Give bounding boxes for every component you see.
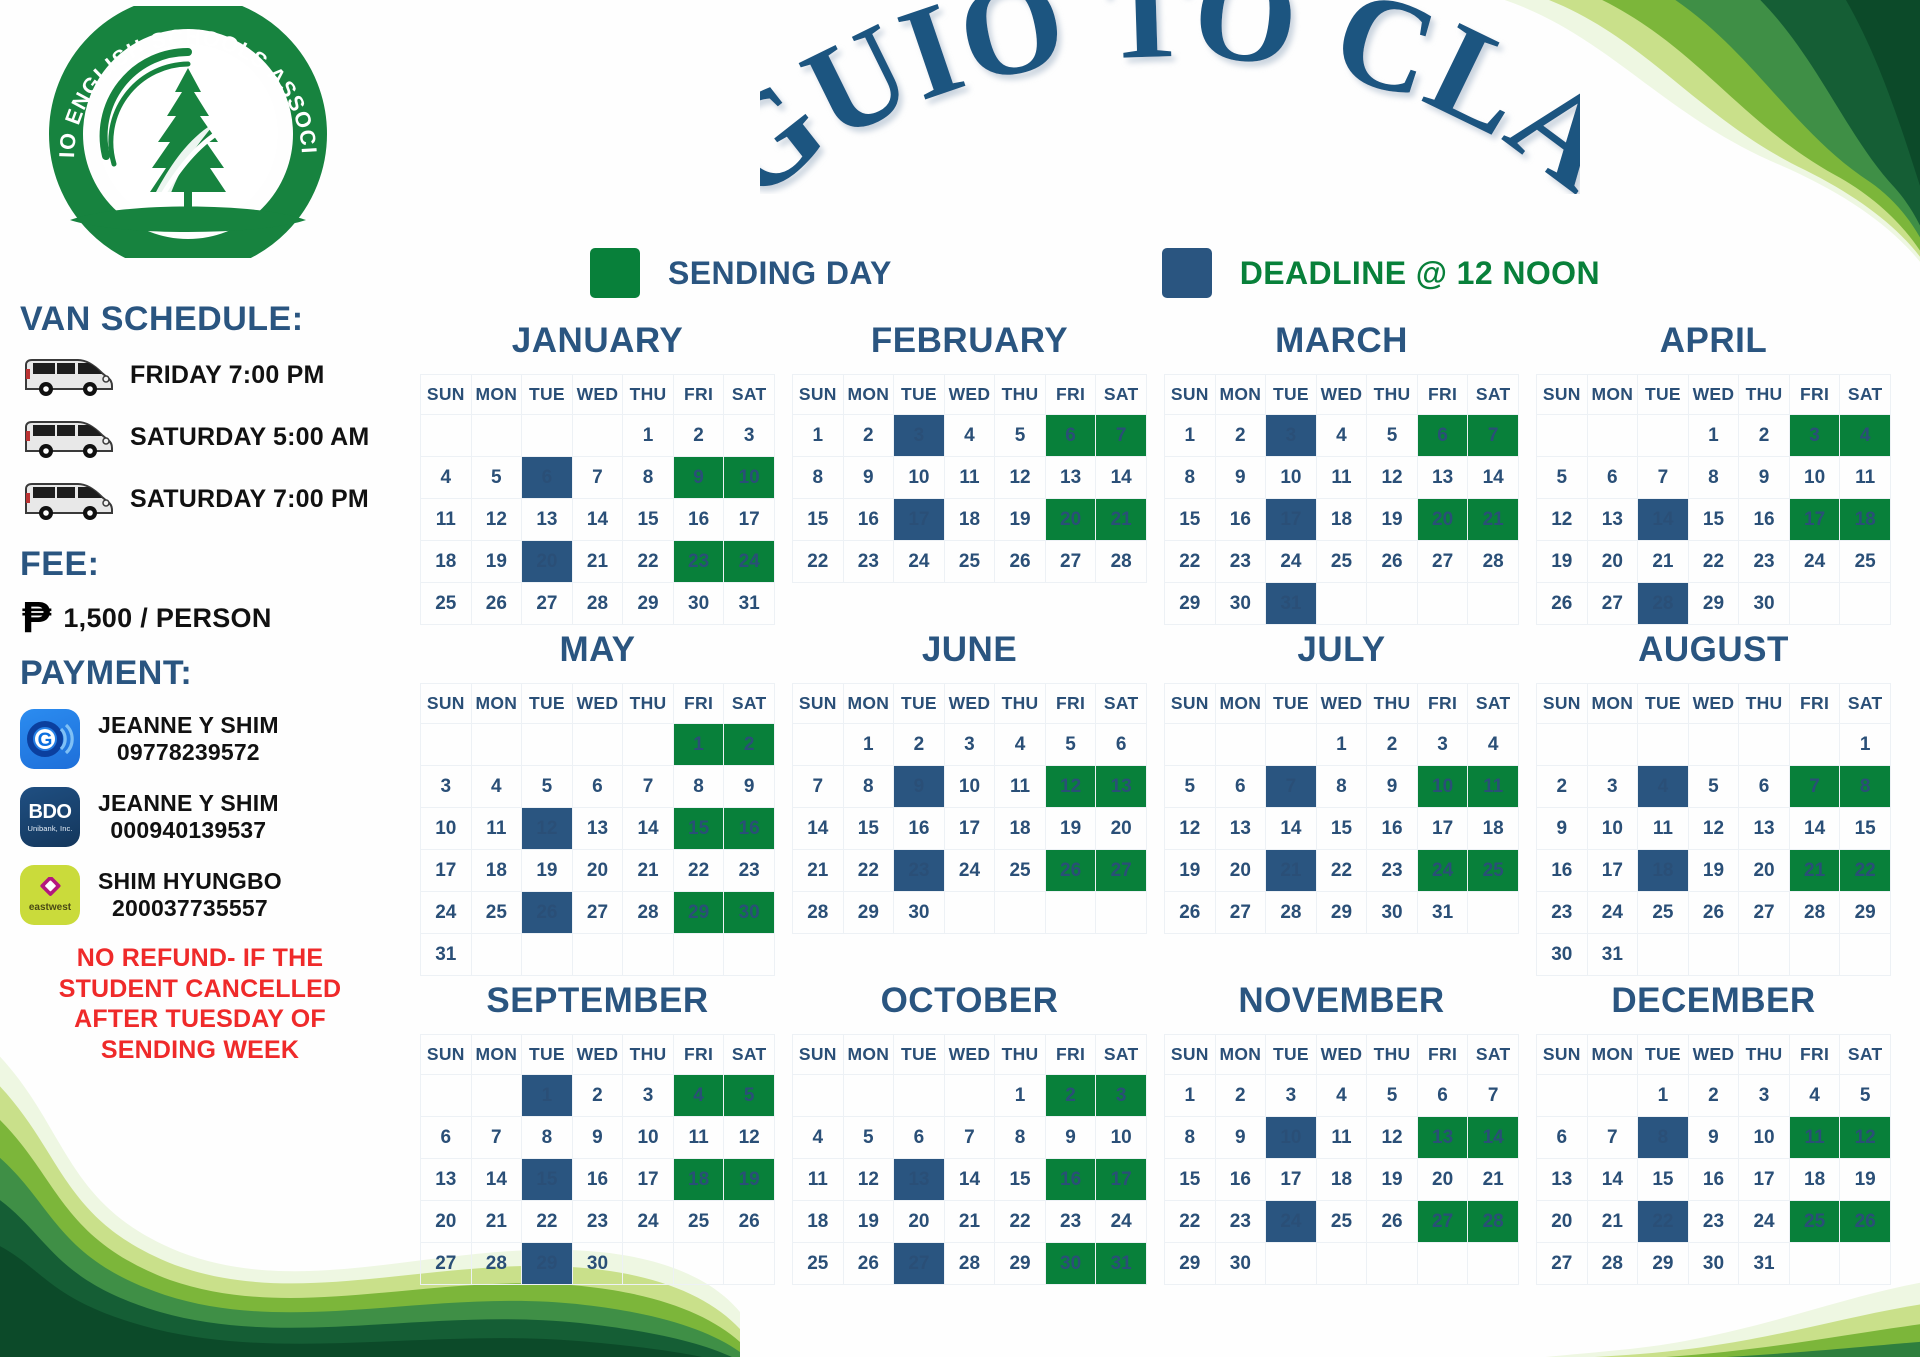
calendar-day[interactable]: 7 [471, 1117, 522, 1159]
calendar-day[interactable]: 21 [623, 850, 674, 892]
calendar-day[interactable]: 18 [421, 541, 472, 583]
calendar-day[interactable]: 1 [1688, 415, 1739, 457]
calendar-day[interactable]: 22 [673, 850, 724, 892]
calendar-day[interactable]: 3 [1266, 1075, 1317, 1117]
calendar-day[interactable]: 24 [894, 541, 945, 583]
calendar-day[interactable]: 29 [1316, 892, 1367, 934]
calendar-day-sending[interactable]: 20 [1417, 499, 1468, 541]
calendar-day[interactable]: 27 [1739, 892, 1790, 934]
calendar-day[interactable]: 23 [1367, 850, 1418, 892]
calendar-day[interactable]: 20 [421, 1201, 472, 1243]
calendar-day-sending[interactable]: 23 [673, 541, 724, 583]
calendar-day[interactable]: 29 [1165, 1243, 1216, 1285]
calendar-day-sending[interactable]: 6 [1045, 415, 1096, 457]
calendar-day[interactable]: 14 [1096, 457, 1147, 499]
calendar-day[interactable]: 31 [1739, 1243, 1790, 1285]
calendar-day[interactable]: 24 [1587, 892, 1638, 934]
calendar-day-deadline[interactable]: 27 [894, 1243, 945, 1285]
calendar-day[interactable]: 28 [944, 1243, 995, 1285]
calendar-day[interactable]: 17 [944, 808, 995, 850]
calendar-day[interactable]: 26 [471, 583, 522, 625]
calendar-day[interactable]: 8 [1165, 1117, 1216, 1159]
calendar-day[interactable]: 9 [1739, 457, 1790, 499]
calendar-day[interactable]: 26 [1367, 1201, 1418, 1243]
calendar-day[interactable]: 6 [1215, 766, 1266, 808]
calendar-day[interactable]: 26 [1165, 892, 1216, 934]
calendar-day[interactable]: 27 [1045, 541, 1096, 583]
calendar-day[interactable]: 4 [1789, 1075, 1840, 1117]
calendar-day[interactable]: 24 [944, 850, 995, 892]
calendar-day[interactable]: 14 [572, 499, 623, 541]
calendar-day[interactable]: 8 [1316, 766, 1367, 808]
calendar-day[interactable]: 15 [1638, 1159, 1689, 1201]
calendar-day[interactable]: 5 [1537, 457, 1588, 499]
calendar-day[interactable]: 19 [1367, 499, 1418, 541]
calendar-day-sending[interactable]: 11 [1789, 1117, 1840, 1159]
calendar-day-sending[interactable]: 10 [724, 457, 775, 499]
calendar-day[interactable]: 21 [793, 850, 844, 892]
calendar-day[interactable]: 22 [793, 541, 844, 583]
calendar-day-sending[interactable]: 2 [1045, 1075, 1096, 1117]
calendar-day-sending[interactable]: 25 [1468, 850, 1519, 892]
calendar-day[interactable]: 6 [1587, 457, 1638, 499]
calendar-day-sending[interactable]: 27 [1096, 850, 1147, 892]
calendar-day[interactable]: 21 [572, 541, 623, 583]
calendar-day[interactable]: 17 [623, 1159, 674, 1201]
calendar-day[interactable]: 24 [1096, 1201, 1147, 1243]
calendar-day[interactable]: 1 [623, 415, 674, 457]
calendar-day[interactable]: 3 [1417, 724, 1468, 766]
calendar-day[interactable]: 16 [1537, 850, 1588, 892]
calendar-day[interactable]: 4 [421, 457, 472, 499]
calendar-day[interactable]: 19 [471, 541, 522, 583]
calendar-day[interactable]: 13 [1045, 457, 1096, 499]
calendar-day[interactable]: 2 [1739, 415, 1790, 457]
calendar-day[interactable]: 6 [572, 766, 623, 808]
calendar-day[interactable]: 8 [995, 1117, 1046, 1159]
calendar-day-sending[interactable]: 3 [1096, 1075, 1147, 1117]
calendar-day-sending[interactable]: 24 [724, 541, 775, 583]
calendar-day-deadline[interactable]: 20 [522, 541, 573, 583]
calendar-day[interactable]: 11 [421, 499, 472, 541]
calendar-day[interactable]: 12 [1367, 1117, 1418, 1159]
calendar-day[interactable]: 31 [724, 583, 775, 625]
calendar-day[interactable]: 23 [1215, 541, 1266, 583]
calendar-day[interactable]: 2 [1537, 766, 1588, 808]
calendar-day-sending[interactable]: 2 [724, 724, 775, 766]
calendar-day[interactable]: 1 [1316, 724, 1367, 766]
calendar-day[interactable]: 11 [793, 1159, 844, 1201]
calendar-day[interactable]: 18 [944, 499, 995, 541]
calendar-day-deadline[interactable]: 18 [1638, 850, 1689, 892]
calendar-day[interactable]: 11 [1316, 457, 1367, 499]
calendar-day[interactable]: 11 [471, 808, 522, 850]
calendar-day-deadline[interactable]: 15 [522, 1159, 573, 1201]
calendar-day[interactable]: 27 [421, 1243, 472, 1285]
calendar-day[interactable]: 11 [1316, 1117, 1367, 1159]
calendar-day[interactable]: 2 [1215, 1075, 1266, 1117]
calendar-day[interactable]: 4 [1316, 1075, 1367, 1117]
calendar-day-deadline[interactable]: 3 [1266, 415, 1317, 457]
calendar-day[interactable]: 5 [1688, 766, 1739, 808]
calendar-day[interactable]: 11 [673, 1117, 724, 1159]
calendar-day[interactable]: 15 [1688, 499, 1739, 541]
calendar-day[interactable]: 10 [623, 1117, 674, 1159]
calendar-day[interactable]: 29 [623, 583, 674, 625]
calendar-day-sending[interactable]: 21 [1096, 499, 1147, 541]
calendar-day[interactable]: 10 [894, 457, 945, 499]
calendar-day[interactable]: 2 [572, 1075, 623, 1117]
calendar-day[interactable]: 18 [1316, 499, 1367, 541]
calendar-day-sending[interactable]: 12 [1045, 766, 1096, 808]
calendar-day[interactable]: 13 [421, 1159, 472, 1201]
calendar-day[interactable]: 28 [1096, 541, 1147, 583]
calendar-day[interactable]: 16 [1215, 1159, 1266, 1201]
calendar-day[interactable]: 6 [1739, 766, 1790, 808]
calendar-day[interactable]: 1 [843, 724, 894, 766]
calendar-day-sending[interactable]: 7 [1096, 415, 1147, 457]
calendar-day-sending[interactable]: 14 [1468, 1117, 1519, 1159]
calendar-day[interactable]: 23 [843, 541, 894, 583]
calendar-day-sending[interactable]: 6 [1417, 415, 1468, 457]
calendar-day[interactable]: 18 [471, 850, 522, 892]
calendar-day[interactable]: 16 [572, 1159, 623, 1201]
calendar-day-deadline[interactable]: 10 [1266, 1117, 1317, 1159]
calendar-day[interactable]: 29 [1840, 892, 1891, 934]
calendar-day[interactable]: 20 [1587, 541, 1638, 583]
calendar-day[interactable]: 12 [1367, 457, 1418, 499]
calendar-day[interactable]: 1 [1638, 1075, 1689, 1117]
calendar-day[interactable]: 19 [1537, 541, 1588, 583]
calendar-day[interactable]: 5 [1367, 415, 1418, 457]
calendar-day-sending[interactable]: 19 [724, 1159, 775, 1201]
calendar-day[interactable]: 12 [843, 1159, 894, 1201]
calendar-day-sending[interactable]: 30 [724, 892, 775, 934]
calendar-day[interactable]: 10 [1789, 457, 1840, 499]
calendar-day[interactable]: 20 [1096, 808, 1147, 850]
calendar-day-sending[interactable]: 28 [1468, 1201, 1519, 1243]
calendar-day[interactable]: 9 [843, 457, 894, 499]
calendar-day[interactable]: 16 [1367, 808, 1418, 850]
calendar-day[interactable]: 29 [1165, 583, 1216, 625]
calendar-day-deadline[interactable]: 29 [522, 1243, 573, 1285]
calendar-day[interactable]: 22 [1165, 541, 1216, 583]
calendar-day[interactable]: 21 [471, 1201, 522, 1243]
calendar-day[interactable]: 30 [572, 1243, 623, 1285]
calendar-day[interactable]: 19 [1165, 850, 1216, 892]
calendar-day[interactable]: 17 [1739, 1159, 1790, 1201]
calendar-day[interactable]: 23 [1537, 892, 1588, 934]
calendar-day[interactable]: 17 [1266, 1159, 1317, 1201]
calendar-day[interactable]: 22 [1688, 541, 1739, 583]
calendar-day[interactable]: 20 [1417, 1159, 1468, 1201]
calendar-day[interactable]: 23 [1215, 1201, 1266, 1243]
calendar-day[interactable]: 19 [995, 499, 1046, 541]
calendar-day-sending[interactable]: 18 [673, 1159, 724, 1201]
calendar-day[interactable]: 17 [421, 850, 472, 892]
calendar-day[interactable]: 27 [1417, 541, 1468, 583]
calendar-day[interactable]: 18 [1316, 1159, 1367, 1201]
calendar-day[interactable]: 16 [1688, 1159, 1739, 1201]
calendar-day[interactable]: 29 [1638, 1243, 1689, 1285]
calendar-day[interactable]: 14 [1789, 808, 1840, 850]
calendar-day[interactable]: 26 [1367, 541, 1418, 583]
calendar-day-deadline[interactable]: 4 [1638, 766, 1689, 808]
calendar-day[interactable]: 2 [843, 415, 894, 457]
calendar-day[interactable]: 10 [421, 808, 472, 850]
calendar-day-deadline[interactable]: 8 [1638, 1117, 1689, 1159]
calendar-day[interactable]: 25 [421, 583, 472, 625]
calendar-day[interactable]: 14 [1468, 457, 1519, 499]
calendar-day[interactable]: 22 [843, 850, 894, 892]
calendar-day[interactable]: 20 [1739, 850, 1790, 892]
calendar-day[interactable]: 22 [995, 1201, 1046, 1243]
calendar-day-deadline[interactable]: 1 [522, 1075, 573, 1117]
calendar-day-deadline[interactable]: 7 [1266, 766, 1317, 808]
calendar-day-sending[interactable]: 7 [1789, 766, 1840, 808]
calendar-day[interactable]: 3 [1739, 1075, 1790, 1117]
calendar-day[interactable]: 9 [1367, 766, 1418, 808]
calendar-day[interactable]: 4 [1468, 724, 1519, 766]
calendar-day[interactable]: 6 [1096, 724, 1147, 766]
calendar-day-sending[interactable]: 16 [1045, 1159, 1096, 1201]
calendar-day-sending[interactable]: 4 [1840, 415, 1891, 457]
calendar-day[interactable]: 8 [1165, 457, 1216, 499]
calendar-day[interactable]: 21 [1587, 1201, 1638, 1243]
calendar-day-sending[interactable]: 9 [673, 457, 724, 499]
calendar-day[interactable]: 23 [1688, 1201, 1739, 1243]
calendar-day[interactable]: 19 [1045, 808, 1096, 850]
calendar-day[interactable]: 27 [1537, 1243, 1588, 1285]
calendar-day[interactable]: 23 [1045, 1201, 1096, 1243]
calendar-day[interactable]: 13 [1537, 1159, 1588, 1201]
calendar-day[interactable]: 3 [1587, 766, 1638, 808]
calendar-day[interactable]: 19 [522, 850, 573, 892]
calendar-day[interactable]: 20 [1215, 850, 1266, 892]
calendar-day[interactable]: 24 [421, 892, 472, 934]
calendar-day[interactable]: 15 [995, 1159, 1046, 1201]
calendar-day[interactable]: 25 [995, 850, 1046, 892]
calendar-day[interactable]: 13 [572, 808, 623, 850]
calendar-day[interactable]: 17 [1587, 850, 1638, 892]
calendar-day[interactable]: 10 [1266, 457, 1317, 499]
calendar-day-sending[interactable]: 15 [673, 808, 724, 850]
calendar-day[interactable]: 4 [1316, 415, 1367, 457]
calendar-day-deadline[interactable]: 22 [1638, 1201, 1689, 1243]
calendar-day[interactable]: 25 [793, 1243, 844, 1285]
calendar-day[interactable]: 18 [1789, 1159, 1840, 1201]
calendar-day-sending[interactable]: 17 [1096, 1159, 1147, 1201]
calendar-day[interactable]: 12 [1537, 499, 1588, 541]
calendar-day[interactable]: 14 [1587, 1159, 1638, 1201]
calendar-day-sending[interactable]: 21 [1789, 850, 1840, 892]
calendar-day-deadline[interactable]: 14 [1638, 499, 1689, 541]
calendar-day[interactable]: 23 [1739, 541, 1790, 583]
calendar-day[interactable]: 26 [1688, 892, 1739, 934]
calendar-day[interactable]: 3 [421, 766, 472, 808]
calendar-day[interactable]: 28 [471, 1243, 522, 1285]
calendar-day[interactable]: 19 [1840, 1159, 1891, 1201]
calendar-day[interactable]: 2 [1367, 724, 1418, 766]
calendar-day[interactable]: 19 [843, 1201, 894, 1243]
calendar-day[interactable]: 4 [471, 766, 522, 808]
calendar-day-deadline[interactable]: 31 [1266, 583, 1317, 625]
calendar-day[interactable]: 22 [623, 541, 674, 583]
calendar-day[interactable]: 9 [1045, 1117, 1096, 1159]
calendar-day[interactable]: 11 [1840, 457, 1891, 499]
calendar-day[interactable]: 15 [1316, 808, 1367, 850]
calendar-day[interactable]: 7 [623, 766, 674, 808]
calendar-day[interactable]: 21 [944, 1201, 995, 1243]
calendar-day[interactable]: 28 [1266, 892, 1317, 934]
calendar-day[interactable]: 19 [1688, 850, 1739, 892]
calendar-day[interactable]: 9 [1215, 457, 1266, 499]
calendar-day[interactable]: 5 [843, 1117, 894, 1159]
calendar-day[interactable]: 30 [894, 892, 945, 934]
calendar-day[interactable]: 25 [944, 541, 995, 583]
calendar-day-sending[interactable]: 26 [1045, 850, 1096, 892]
calendar-day[interactable]: 23 [724, 850, 775, 892]
calendar-day[interactable]: 16 [673, 499, 724, 541]
calendar-day-sending[interactable]: 3 [1789, 415, 1840, 457]
calendar-day-sending[interactable]: 5 [724, 1075, 775, 1117]
calendar-day[interactable]: 13 [522, 499, 573, 541]
calendar-day[interactable]: 7 [1587, 1117, 1638, 1159]
calendar-day[interactable]: 9 [1537, 808, 1588, 850]
calendar-day[interactable]: 3 [623, 1075, 674, 1117]
calendar-day[interactable]: 5 [995, 415, 1046, 457]
calendar-day[interactable]: 26 [724, 1201, 775, 1243]
calendar-day[interactable]: 14 [944, 1159, 995, 1201]
calendar-day[interactable]: 2 [894, 724, 945, 766]
calendar-day-sending[interactable]: 30 [1045, 1243, 1096, 1285]
calendar-day-sending[interactable]: 1 [673, 724, 724, 766]
calendar-day[interactable]: 6 [421, 1117, 472, 1159]
calendar-day-sending[interactable]: 21 [1468, 499, 1519, 541]
calendar-day[interactable]: 11 [1638, 808, 1689, 850]
calendar-day[interactable]: 24 [1266, 541, 1317, 583]
calendar-day[interactable]: 4 [793, 1117, 844, 1159]
calendar-day[interactable]: 2 [1215, 415, 1266, 457]
calendar-day[interactable]: 13 [1215, 808, 1266, 850]
calendar-day[interactable]: 26 [1537, 583, 1588, 625]
calendar-day[interactable]: 7 [572, 457, 623, 499]
calendar-day[interactable]: 20 [572, 850, 623, 892]
calendar-day[interactable]: 15 [843, 808, 894, 850]
calendar-day-deadline[interactable]: 26 [522, 892, 573, 934]
calendar-day[interactable]: 27 [1215, 892, 1266, 934]
calendar-day-deadline[interactable]: 21 [1266, 850, 1317, 892]
calendar-day[interactable]: 30 [1215, 583, 1266, 625]
calendar-day[interactable]: 12 [1165, 808, 1216, 850]
calendar-day-sending[interactable]: 27 [1417, 1201, 1468, 1243]
calendar-day-sending[interactable]: 18 [1840, 499, 1891, 541]
calendar-day[interactable]: 6 [1417, 1075, 1468, 1117]
calendar-day[interactable]: 25 [1840, 541, 1891, 583]
calendar-day[interactable]: 2 [673, 415, 724, 457]
calendar-day[interactable]: 15 [623, 499, 674, 541]
calendar-day[interactable]: 18 [793, 1201, 844, 1243]
calendar-day[interactable]: 10 [944, 766, 995, 808]
calendar-day[interactable]: 27 [1587, 583, 1638, 625]
calendar-day[interactable]: 30 [673, 583, 724, 625]
calendar-day[interactable]: 23 [572, 1201, 623, 1243]
calendar-day[interactable]: 21 [1638, 541, 1689, 583]
calendar-day[interactable]: 25 [471, 892, 522, 934]
calendar-day[interactable]: 7 [944, 1117, 995, 1159]
calendar-day[interactable]: 5 [1840, 1075, 1891, 1117]
calendar-day[interactable]: 14 [623, 808, 674, 850]
calendar-day[interactable]: 14 [471, 1159, 522, 1201]
calendar-day-deadline[interactable]: 3 [894, 415, 945, 457]
calendar-day[interactable]: 12 [995, 457, 1046, 499]
calendar-day[interactable]: 20 [894, 1201, 945, 1243]
calendar-day-sending[interactable]: 13 [1096, 766, 1147, 808]
calendar-day[interactable]: 13 [1739, 808, 1790, 850]
calendar-day[interactable]: 31 [421, 934, 472, 976]
calendar-day[interactable]: 5 [1165, 766, 1216, 808]
calendar-day[interactable]: 28 [623, 892, 674, 934]
calendar-day[interactable]: 30 [1739, 583, 1790, 625]
calendar-day[interactable]: 29 [843, 892, 894, 934]
calendar-day-deadline[interactable]: 6 [522, 457, 573, 499]
calendar-day[interactable]: 5 [471, 457, 522, 499]
calendar-day[interactable]: 9 [724, 766, 775, 808]
calendar-day[interactable]: 29 [1688, 583, 1739, 625]
calendar-day[interactable]: 30 [1367, 892, 1418, 934]
calendar-day[interactable]: 11 [995, 766, 1046, 808]
calendar-day[interactable]: 11 [944, 457, 995, 499]
calendar-day-deadline[interactable]: 17 [894, 499, 945, 541]
calendar-day[interactable]: 8 [673, 766, 724, 808]
calendar-day-deadline[interactable]: 28 [1638, 583, 1689, 625]
calendar-day[interactable]: 12 [471, 499, 522, 541]
calendar-day[interactable]: 17 [1417, 808, 1468, 850]
calendar-day-sending[interactable]: 10 [1417, 766, 1468, 808]
calendar-day[interactable]: 29 [995, 1243, 1046, 1285]
calendar-day[interactable]: 22 [1165, 1201, 1216, 1243]
calendar-day[interactable]: 14 [1266, 808, 1317, 850]
calendar-day[interactable]: 22 [1316, 850, 1367, 892]
calendar-day[interactable]: 6 [1537, 1117, 1588, 1159]
calendar-day[interactable]: 1 [1165, 1075, 1216, 1117]
calendar-day-deadline[interactable]: 12 [522, 808, 573, 850]
calendar-day-sending[interactable]: 16 [724, 808, 775, 850]
calendar-day[interactable]: 16 [1215, 499, 1266, 541]
calendar-day[interactable]: 30 [1688, 1243, 1739, 1285]
calendar-day[interactable]: 2 [1688, 1075, 1739, 1117]
calendar-day[interactable]: 28 [793, 892, 844, 934]
calendar-day[interactable]: 5 [1045, 724, 1096, 766]
calendar-day[interactable]: 16 [843, 499, 894, 541]
calendar-day[interactable]: 7 [1468, 1075, 1519, 1117]
calendar-day[interactable]: 1 [1840, 724, 1891, 766]
calendar-day[interactable]: 8 [623, 457, 674, 499]
calendar-day[interactable]: 10 [1587, 808, 1638, 850]
calendar-day-sending[interactable]: 25 [1789, 1201, 1840, 1243]
calendar-day[interactable]: 16 [894, 808, 945, 850]
calendar-day[interactable]: 1 [793, 415, 844, 457]
calendar-day[interactable]: 13 [1417, 457, 1468, 499]
calendar-day[interactable]: 24 [1739, 1201, 1790, 1243]
calendar-day[interactable]: 28 [1789, 892, 1840, 934]
calendar-day[interactable]: 31 [1587, 934, 1638, 976]
calendar-day-sending[interactable]: 29 [673, 892, 724, 934]
calendar-day[interactable]: 7 [1638, 457, 1689, 499]
calendar-day[interactable]: 30 [1537, 934, 1588, 976]
calendar-day[interactable]: 28 [572, 583, 623, 625]
calendar-day-sending[interactable]: 7 [1468, 415, 1519, 457]
